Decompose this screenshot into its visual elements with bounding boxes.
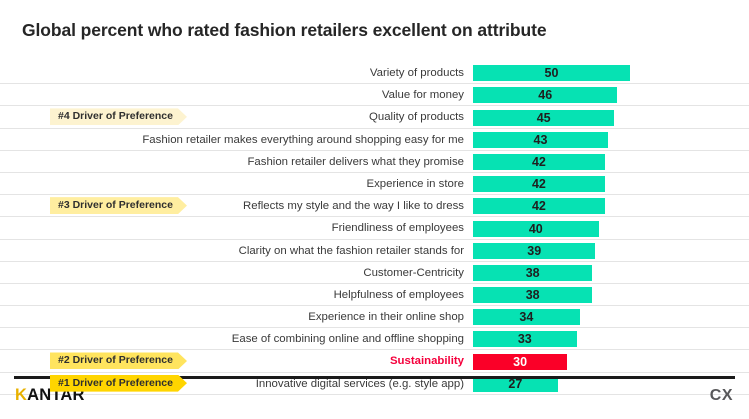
chart-row: Variety of products50 [0, 62, 749, 84]
chart-row: Experience in their online shop34 [0, 306, 749, 328]
bar: 33 [473, 331, 577, 347]
chart-row: Ease of combining online and offline sho… [0, 328, 749, 350]
bar: 38 [473, 287, 592, 303]
category-label: Ease of combining online and offline sho… [232, 328, 464, 350]
bar-value-label: 38 [473, 287, 592, 303]
category-label: Variety of products [370, 62, 464, 84]
driver-of-preference-tag: #1 Driver of Preference [50, 375, 187, 392]
bar-value-label: 34 [473, 309, 580, 325]
bar: 50 [473, 65, 630, 81]
category-label: Friendliness of employees [332, 217, 464, 239]
bar-value-label: 30 [473, 354, 567, 370]
bar: 43 [473, 132, 608, 148]
bar-track: 42 [473, 154, 605, 170]
bar-track: 46 [473, 87, 617, 103]
bar-chart: Variety of products50Value for money46#4… [0, 62, 749, 358]
driver-of-preference-tag: #2 Driver of Preference [50, 352, 187, 369]
bar-track: 38 [473, 287, 592, 303]
bar-track: 42 [473, 176, 605, 192]
category-label: Value for money [382, 84, 464, 106]
chart-row: #2 Driver of PreferenceSustainability30 [0, 350, 749, 372]
bar-track: 45 [473, 110, 614, 126]
category-label: Helpfulness of employees [334, 284, 464, 306]
page-title: Global percent who rated fashion retaile… [22, 20, 546, 41]
category-label: Clarity on what the fashion retailer sta… [239, 240, 464, 262]
chart-row: Customer-Centricity38 [0, 262, 749, 284]
bar: 38 [473, 265, 592, 281]
bar: 34 [473, 309, 580, 325]
chart-row: Clarity on what the fashion retailer sta… [0, 240, 749, 262]
category-label: Fashion retailer delivers what they prom… [247, 151, 464, 173]
bar-value-label: 42 [473, 154, 605, 170]
bar-track: 34 [473, 309, 580, 325]
category-label: Reflects my style and the way I like to … [243, 195, 464, 217]
bar-value-label: 42 [473, 198, 605, 214]
category-label: Sustainability [390, 350, 464, 372]
bar: 39 [473, 243, 595, 259]
bar-track: 40 [473, 221, 599, 237]
driver-of-preference-tag: #4 Driver of Preference [50, 108, 187, 125]
cx-logo: CX [710, 387, 733, 405]
bar-value-label: 43 [473, 132, 608, 148]
chart-row: Value for money46 [0, 84, 749, 106]
bar-value-label: 50 [473, 65, 630, 81]
category-label: Fashion retailer makes everything around… [142, 129, 464, 151]
kantar-logo-k: K [15, 386, 27, 404]
chart-row: Helpfulness of employees38 [0, 284, 749, 306]
bar-track: 38 [473, 265, 592, 281]
bar-value-label: 40 [473, 221, 599, 237]
bar-track: 30 [473, 354, 567, 370]
bar-value-label: 45 [473, 110, 614, 126]
bar-track: 39 [473, 243, 595, 259]
bar-value-label: 42 [473, 176, 605, 192]
bar-value-label: 39 [473, 243, 595, 259]
bar: 30 [473, 354, 567, 370]
bar: 45 [473, 110, 614, 126]
bar-value-label: 38 [473, 265, 592, 281]
bar-track: 42 [473, 198, 605, 214]
bar-value-label: 46 [473, 87, 617, 103]
category-label: Quality of products [369, 106, 464, 128]
bar-track: 43 [473, 132, 608, 148]
bar: 42 [473, 176, 605, 192]
bar-track: 33 [473, 331, 577, 347]
slide-canvas: Global percent who rated fashion retaile… [0, 0, 749, 419]
bar: 42 [473, 154, 605, 170]
chart-row: #4 Driver of PreferenceQuality of produc… [0, 106, 749, 128]
bar-track: 50 [473, 65, 630, 81]
chart-row: #3 Driver of PreferenceReflects my style… [0, 195, 749, 217]
bar: 42 [473, 198, 605, 214]
chart-row: Friendliness of employees40 [0, 217, 749, 239]
bar: 46 [473, 87, 617, 103]
driver-of-preference-tag: #3 Driver of Preference [50, 197, 187, 214]
bar-value-label: 33 [473, 331, 577, 347]
chart-row: Fashion retailer makes everything around… [0, 129, 749, 151]
category-label: Experience in their online shop [308, 306, 464, 328]
chart-row: Fashion retailer delivers what they prom… [0, 151, 749, 173]
chart-row: Experience in store42 [0, 173, 749, 195]
category-label: Experience in store [366, 173, 464, 195]
category-label: Customer-Centricity [363, 262, 464, 284]
bar: 40 [473, 221, 599, 237]
